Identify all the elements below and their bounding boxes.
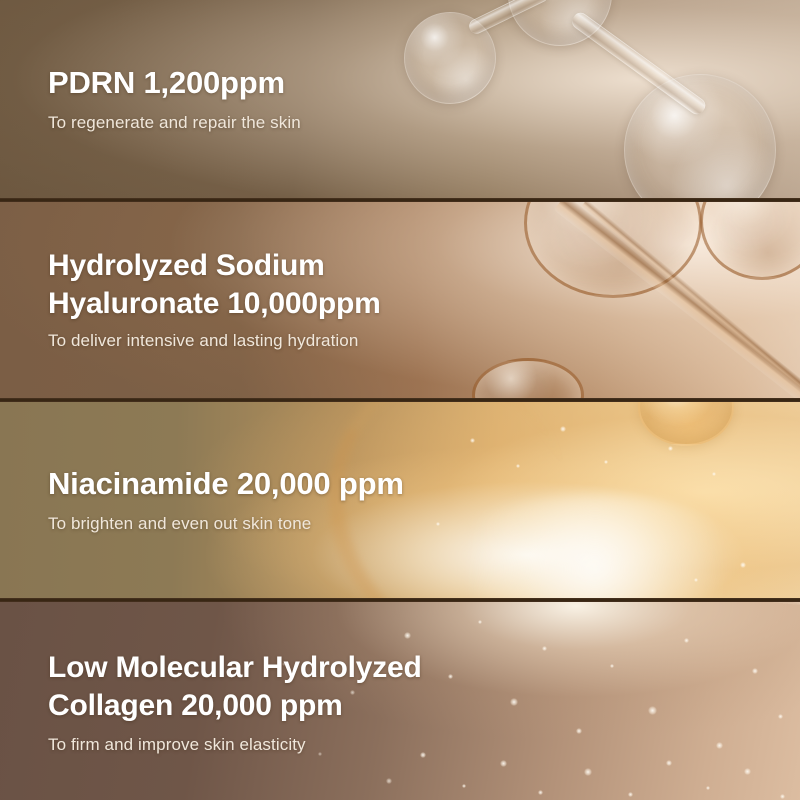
panel-content: Low Molecular Hydrolyzed Collagen 20,000…	[0, 602, 800, 800]
ingredient-title: Low Molecular Hydrolyzed Collagen 20,000…	[48, 649, 568, 725]
panel-content: PDRN 1,200ppm To regenerate and repair t…	[0, 0, 800, 198]
ingredient-title-line2: Hyaluronate 10,000ppm	[48, 287, 381, 320]
ingredient-panel-low-molecular-hydrolyzed-collagen: Low Molecular Hydrolyzed Collagen 20,000…	[0, 602, 800, 800]
ingredient-panel-pdrn: PDRN 1,200ppm To regenerate and repair t…	[0, 0, 800, 198]
ingredient-subtitle: To deliver intensive and lasting hydrati…	[48, 329, 780, 353]
panel-divider-2	[0, 398, 800, 402]
ingredient-banner: PDRN 1,200ppm To regenerate and repair t…	[0, 0, 800, 800]
panel-divider-1	[0, 198, 800, 202]
ingredient-subtitle: To regenerate and repair the skin	[48, 111, 780, 135]
ingredient-subtitle: To firm and improve skin elasticity	[48, 733, 780, 757]
ingredient-title: PDRN 1,200ppm	[48, 63, 568, 102]
ingredient-title-line2: Collagen 20,000 ppm	[48, 689, 343, 722]
ingredient-title-line1: Hydrolyzed Sodium	[48, 249, 325, 282]
ingredient-title: Hydrolyzed Sodium Hyaluronate 10,000ppm	[48, 247, 568, 323]
ingredient-panel-hydrolyzed-sodium-hyaluronate: Hydrolyzed Sodium Hyaluronate 10,000ppm …	[0, 202, 800, 398]
panel-content: Hydrolyzed Sodium Hyaluronate 10,000ppm …	[0, 202, 800, 398]
panel-content: Niacinamide 20,000 ppm To brighten and e…	[0, 402, 800, 598]
ingredient-panel-niacinamide: Niacinamide 20,000 ppm To brighten and e…	[0, 402, 800, 598]
panel-divider-3	[0, 598, 800, 602]
ingredient-subtitle: To brighten and even out skin tone	[48, 512, 780, 536]
ingredient-title-line1: Low Molecular Hydrolyzed	[48, 651, 422, 684]
ingredient-title: Niacinamide 20,000 ppm	[48, 464, 568, 503]
